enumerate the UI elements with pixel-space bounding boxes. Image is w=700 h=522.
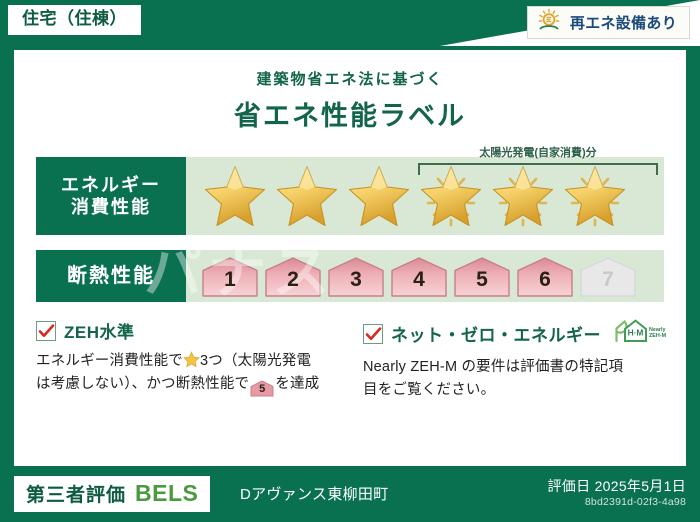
insulation-level-active: 3 — [326, 255, 386, 297]
zeh-standard-column: ZEH水準 エネルギー消費性能で3つ（太陽光発電 は考慮しない）、かつ断熱性能で… — [36, 318, 341, 403]
bels-certification-box: 第三者評価 BELS — [14, 476, 210, 512]
net-zero-text-line2: 目をご覧ください。 — [363, 382, 495, 398]
insulation-level-value: 2 — [287, 269, 299, 297]
zeh-heading: ZEH水準 — [36, 318, 341, 343]
solar-sun-icon — [536, 8, 562, 37]
renewable-energy-badge: 再エネ設備あり — [527, 6, 690, 39]
insulation-level-active: 4 — [389, 255, 449, 297]
star-solar — [418, 163, 484, 229]
building-type-tag: 住宅（住棟） — [8, 5, 141, 35]
evaluation-date: 評価日 2025年5月1日 — [547, 476, 686, 496]
insulation-badge-value: 5 — [250, 380, 274, 399]
zeh-text-part2: 3つ（太陽光発電 — [200, 353, 311, 369]
label-title: 省エネ性能ラベル — [14, 94, 686, 133]
insulation-level-active: 2 — [263, 255, 323, 297]
renewable-badge-label: 再エネ設備あり — [570, 12, 677, 33]
zeh-checkbox-checked — [36, 321, 56, 341]
star-filled — [274, 163, 340, 229]
bels-logo-text: BELS — [135, 480, 198, 507]
zeh-text-part4: を達成 — [275, 376, 319, 392]
label-card: 建築物省エネ法に基づく 省エネ性能ラベル パナス エネルギー 消費性能 太陽光発… — [14, 50, 686, 464]
zeh-title: ZEH水準 — [64, 318, 135, 343]
insulation-level-value: 5 — [476, 269, 488, 297]
energy-label-root: 住宅（住棟） 再エネ設備あり 建築物省エネ法に基づく — [0, 0, 700, 522]
label-subtitle: 建築物省エネ法に基づく — [14, 68, 686, 89]
energy-label-line1: エネルギー — [61, 174, 161, 197]
zeh-text-part3: は考慮しない）、かつ断熱性能で — [36, 376, 249, 392]
insulation-level-value: 6 — [539, 269, 551, 297]
net-zero-energy-column: ネット・ゼロ・エネルギー H·M Nearly ZEH-M Nearly ZEH… — [363, 318, 668, 403]
star-filled — [202, 163, 268, 229]
net-zero-heading: ネット・ゼロ・エネルギー H·M Nearly ZEH-M — [363, 318, 668, 349]
criteria-columns: ZEH水準 エネルギー消費性能で3つ（太陽光発電 は考慮しない）、かつ断熱性能で… — [36, 318, 668, 403]
insulation-level-inactive: 7 — [578, 255, 638, 297]
insulation-level-active: 1 — [200, 255, 260, 297]
svg-text:H·M: H·M — [628, 328, 644, 338]
star-solar — [490, 163, 556, 229]
energy-row-body: 太陽光発電(自家消費)分 — [186, 157, 664, 235]
insulation-level-value: 3 — [350, 269, 362, 297]
zeh-text-part1: エネルギー消費性能で — [36, 353, 183, 369]
net-zero-title: ネット・ゼロ・エネルギー — [391, 321, 601, 346]
nearly-zehm-logo-icon: H·M Nearly ZEH-M — [614, 318, 668, 349]
third-party-label: 第三者評価 — [26, 480, 126, 507]
insulation-badge-icon: 5 — [250, 380, 274, 397]
zehm-caption-line2: ZEH-M — [649, 333, 667, 339]
insulation-row-body: 1 2 — [186, 250, 664, 302]
zeh-description: エネルギー消費性能で3つ（太陽光発電 は考慮しない）、かつ断熱性能で5を達成 — [36, 350, 341, 397]
insulation-level-active: 6 — [515, 255, 575, 297]
net-zero-checkbox-checked — [363, 324, 383, 344]
energy-label-line2: 消費性能 — [71, 196, 151, 219]
insulation-level-value: 1 — [224, 269, 236, 297]
insulation-level-active: 5 — [452, 255, 512, 297]
energy-row-label: エネルギー 消費性能 — [36, 157, 186, 235]
insulation-performance-row: 断熱性能 1 — [36, 250, 664, 302]
label-footer: 第三者評価 BELS Dアヴァンス東柳田町 評価日 2025年5月1日 8bd2… — [0, 464, 700, 522]
gold-star-icon — [183, 351, 200, 368]
insulation-level-value: 4 — [413, 269, 425, 297]
star-filled — [346, 163, 412, 229]
building-name: Dアヴァンス東柳田町 — [240, 483, 389, 504]
energy-performance-row: エネルギー 消費性能 太陽光発電(自家消費)分 — [36, 157, 664, 235]
star-solar — [562, 163, 628, 229]
net-zero-text-line1: Nearly ZEH-M の要件は評価書の特記項 — [363, 359, 623, 375]
net-zero-description: Nearly ZEH-M の要件は評価書の特記項 目をご覧ください。 — [363, 356, 668, 403]
solar-portion-caption: 太陽光発電(自家消費)分 — [418, 144, 658, 160]
insulation-level-value: 7 — [602, 269, 614, 297]
footer-divider — [14, 464, 686, 466]
insulation-row-label: 断熱性能 — [36, 250, 186, 302]
evaluation-id: 8bd2391d-02f3-4a98 — [585, 496, 686, 508]
energy-star-rating — [186, 157, 664, 235]
insulation-level-scale: 1 2 — [186, 250, 638, 302]
